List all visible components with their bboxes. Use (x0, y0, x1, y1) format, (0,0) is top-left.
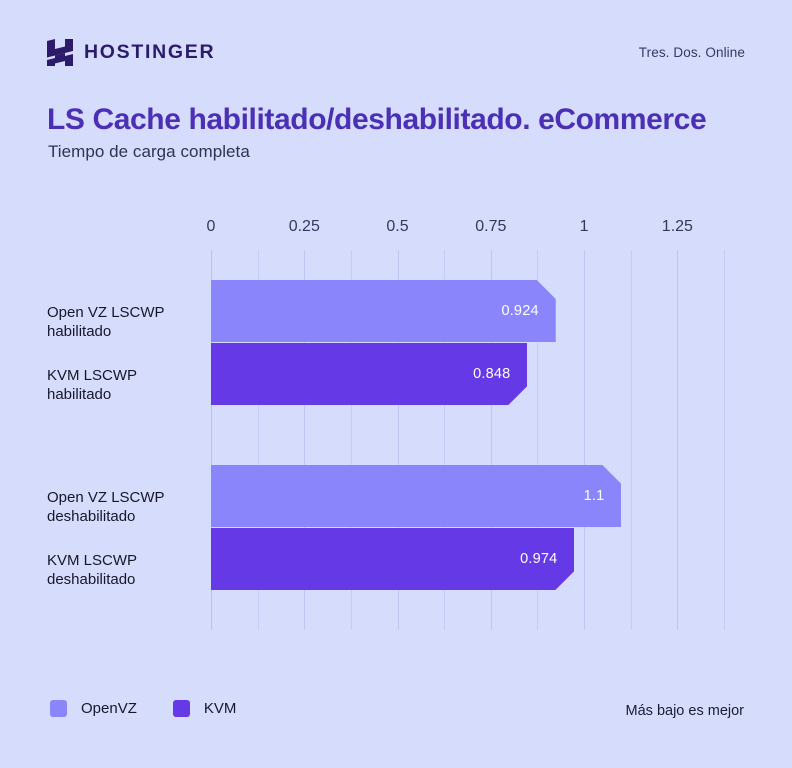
category-label-line2: deshabilitado (47, 507, 202, 526)
x-axis-tick-label: 0 (207, 218, 216, 236)
category-label-line2: habilitado (47, 322, 202, 341)
chart-footnote: Más bajo es mejor (626, 703, 744, 719)
category-label: KVM LSCWPhabilitado (47, 366, 202, 404)
bar-openvz-2[interactable]: 1.1 (211, 465, 621, 527)
gridline-minor (724, 250, 725, 630)
category-label-line1: KVM LSCWP (47, 366, 202, 385)
category-label-line1: KVM LSCWP (47, 551, 202, 570)
x-axis-tick-label: 1.25 (662, 218, 693, 236)
category-label-line2: habilitado (47, 385, 202, 404)
gridline-major (677, 250, 678, 630)
legend-item-openvz[interactable]: OpenVZ (50, 700, 137, 717)
bar-value-label: 0.974 (520, 551, 557, 567)
legend-label-openvz: OpenVZ (81, 700, 137, 717)
category-label-line1: Open VZ LSCWP (47, 303, 202, 322)
legend-swatch-kvm (173, 700, 190, 717)
bar-kvm-3[interactable]: 0.974 (211, 528, 574, 590)
legend-item-kvm[interactable]: KVM (173, 700, 237, 717)
legend-swatch-openvz (50, 700, 67, 717)
x-axis-tick-label: 0.5 (386, 218, 408, 236)
bar-value-label: 0.924 (501, 303, 538, 319)
category-label: Open VZ LSCWPhabilitado (47, 303, 202, 341)
x-axis-tick-label: 0.75 (475, 218, 506, 236)
chart-legend: OpenVZ KVM (50, 700, 236, 717)
x-axis-tick-label: 0.25 (289, 218, 320, 236)
gridline-minor (631, 250, 632, 630)
bar-value-label: 0.848 (473, 366, 510, 382)
gridline-major (584, 250, 585, 630)
category-label-line2: deshabilitado (47, 570, 202, 589)
bar-value-label: 1.1 (584, 488, 605, 504)
category-label-line1: Open VZ LSCWP (47, 488, 202, 507)
plot-area: 00.250.50.7511.250.9240.8481.10.974 (211, 250, 724, 630)
legend-label-kvm: KVM (204, 700, 237, 717)
bar-kvm-1[interactable]: 0.848 (211, 343, 527, 405)
category-label: Open VZ LSCWPdeshabilitado (47, 488, 202, 526)
bar-openvz-0[interactable]: 0.924 (211, 280, 556, 342)
category-label: KVM LSCWPdeshabilitado (47, 551, 202, 589)
x-axis-tick-label: 1 (580, 218, 589, 236)
